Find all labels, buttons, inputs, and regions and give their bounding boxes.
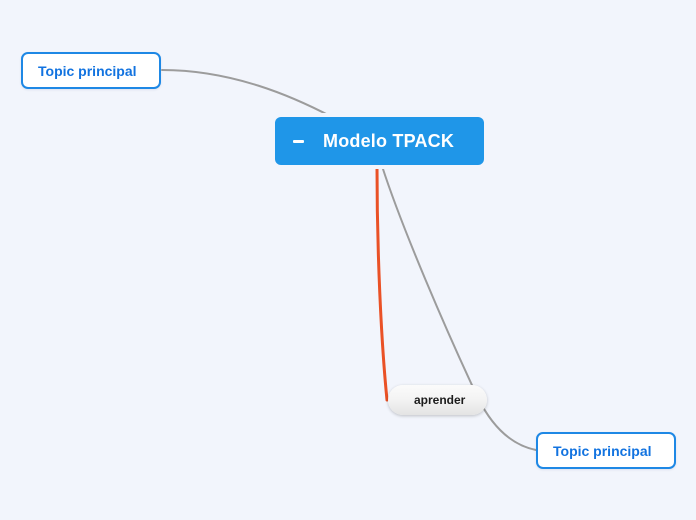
pill-node-aprender[interactable]: aprender [388, 385, 487, 415]
topic-node-top-left[interactable]: Topic principal [21, 52, 161, 89]
minus-bar [293, 140, 304, 143]
connector-root-to-aprender [377, 167, 387, 400]
root-node-modelo-tpack[interactable]: Modelo TPACK [275, 117, 484, 165]
collapse-minus-icon[interactable] [291, 130, 305, 152]
topic-node-bottom-right-label: Topic principal [553, 443, 652, 459]
topic-node-bottom-right[interactable]: Topic principal [536, 432, 676, 469]
mindmap-canvas[interactable]: Modelo TPACK Topic principal aprender To… [0, 0, 696, 520]
topic-node-top-left-label: Topic principal [38, 63, 137, 79]
root-node-label: Modelo TPACK [323, 131, 454, 152]
connector-topleft-to-root [162, 70, 332, 117]
pill-node-aprender-label: aprender [414, 393, 465, 407]
